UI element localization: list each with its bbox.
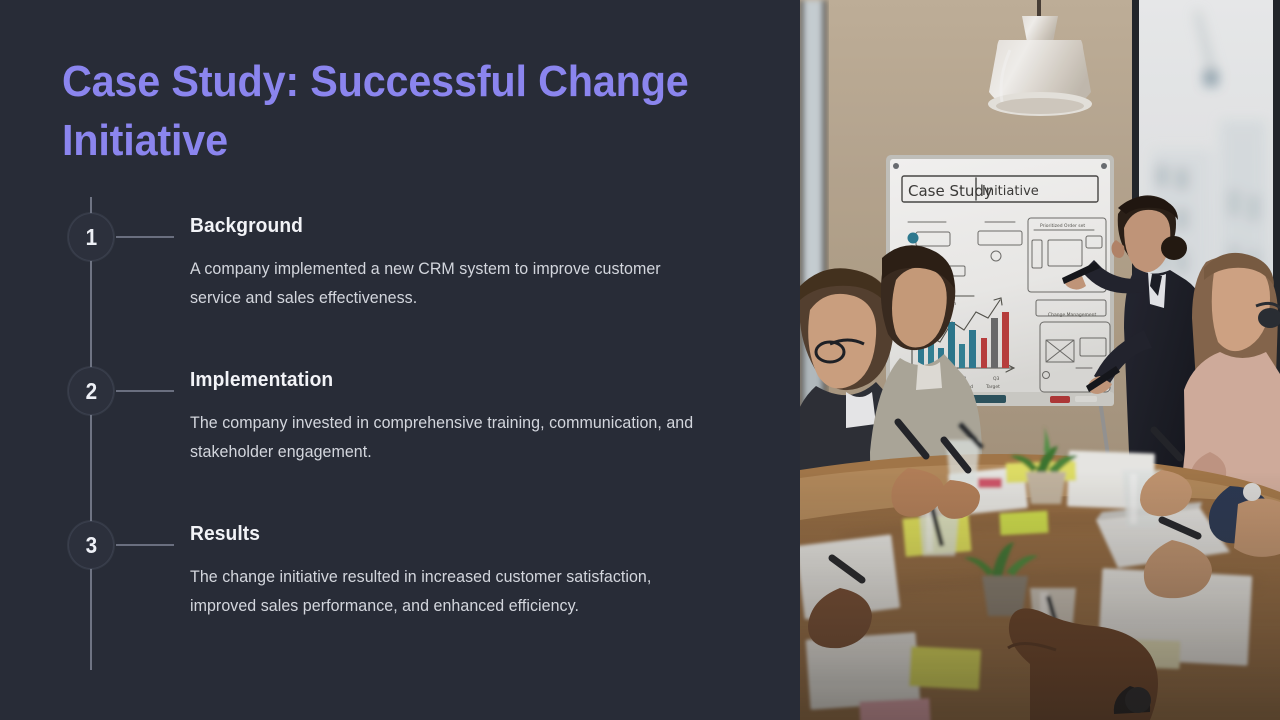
timeline-number-2: 2	[85, 380, 97, 403]
timeline-description-1: A company implemented a new CRM system t…	[190, 255, 694, 313]
timeline-marker-2: 2	[68, 367, 114, 415]
timeline-heading-1: Background	[190, 213, 728, 240]
timeline-number-1: 1	[85, 226, 97, 249]
timeline-body-2: Implementation The company invested in c…	[190, 367, 750, 467]
slide: Case Study: Successful Change Initiative…	[0, 0, 1280, 720]
meeting-room-photo: Case Study Initiative	[800, 0, 1280, 720]
timeline-connector-3	[116, 544, 174, 546]
timeline-heading-3: Results	[190, 521, 728, 548]
timeline-connector-2	[116, 390, 174, 392]
timeline: 1 Background A company implemented a new…	[0, 0, 800, 720]
left-content-panel: Case Study: Successful Change Initiative…	[0, 0, 800, 720]
timeline-connector-1	[116, 236, 174, 238]
timeline-body-1: Background A company implemented a new C…	[190, 213, 750, 313]
timeline-marker-3: 3	[68, 521, 114, 569]
timeline-vertical-line	[90, 197, 92, 670]
timeline-body-3: Results The change initiative resulted i…	[190, 521, 750, 621]
timeline-number-3: 3	[85, 534, 97, 557]
timeline-description-3: The change initiative resulted in increa…	[190, 563, 694, 621]
timeline-heading-2: Implementation	[190, 367, 728, 394]
timeline-marker-1: 1	[68, 213, 114, 261]
timeline-description-2: The company invested in comprehensive tr…	[190, 409, 694, 467]
